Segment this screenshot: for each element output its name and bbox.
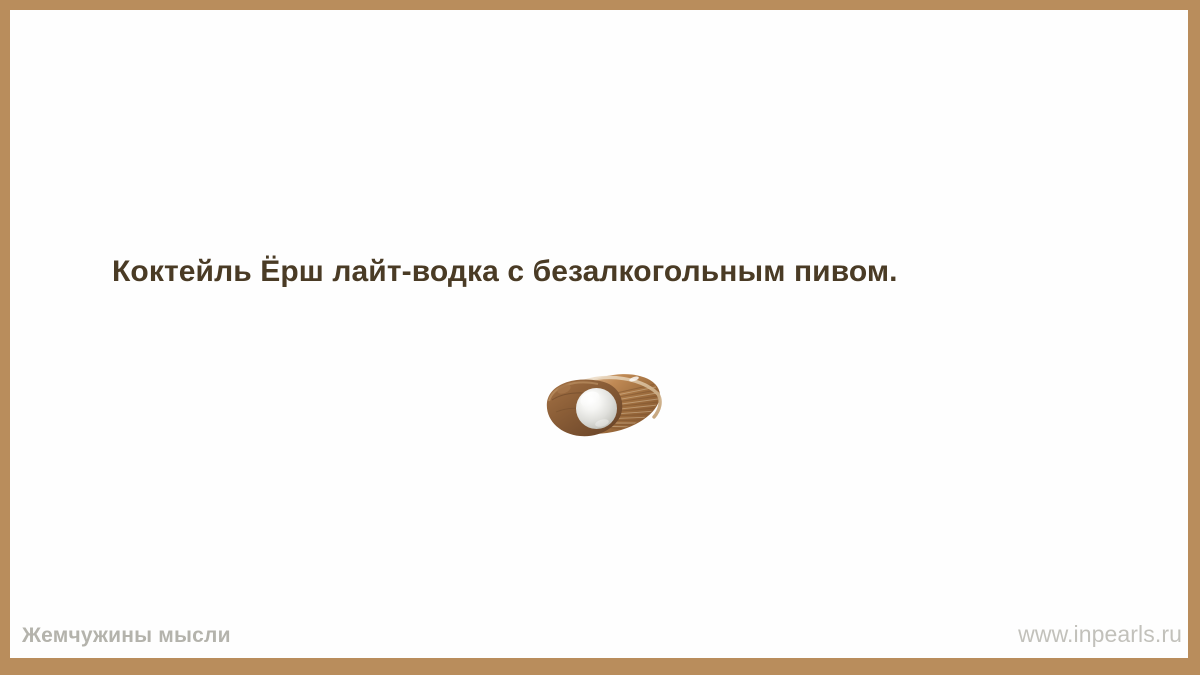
site-name: Жемчужины мысли bbox=[22, 624, 231, 648]
quote-text: Коктейль Ёрш лайт-водка с безалкогольным… bbox=[112, 248, 1102, 296]
quote-block: Коктейль Ёрш лайт-водка с безалкогольным… bbox=[112, 248, 1102, 296]
page-frame: Коктейль Ёрш лайт-водка с безалкогольным… bbox=[0, 0, 1200, 675]
oyster-shell-with-pearl-icon bbox=[538, 368, 672, 450]
footer: Жемчужины мысли www.inpearls.ru bbox=[10, 614, 1188, 650]
site-url-link[interactable]: www.inpearls.ru bbox=[1018, 621, 1182, 648]
